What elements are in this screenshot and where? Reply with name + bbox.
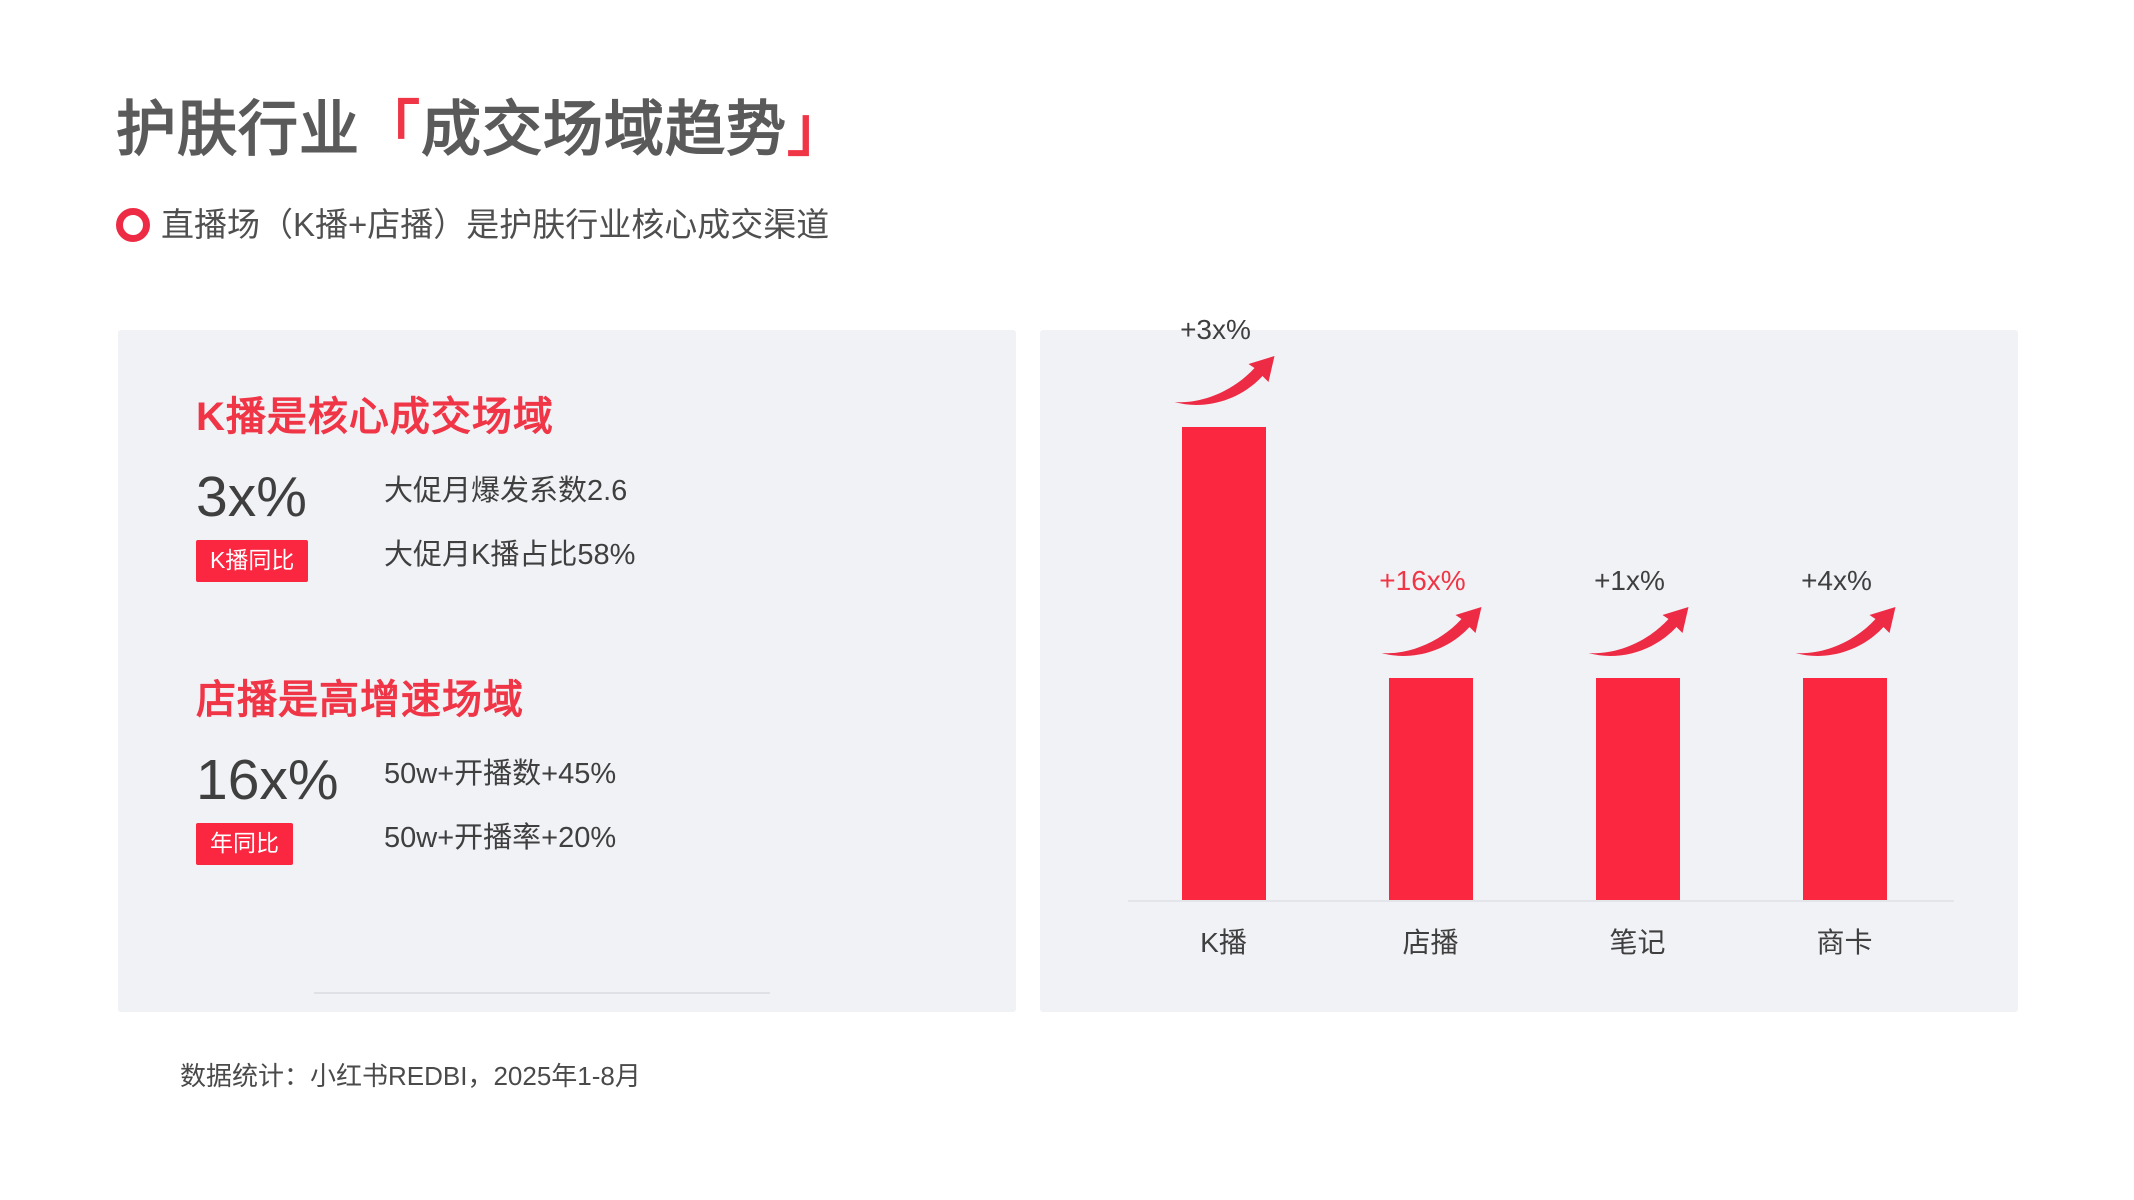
bar-group: +16x% <box>1335 380 1526 900</box>
insight-big-value: 3x% <box>196 466 368 528</box>
insight-stat-left: 3x% K播同比 <box>196 466 368 582</box>
insight-badge: K播同比 <box>196 540 308 582</box>
growth-arrow-icon <box>1132 348 1319 415</box>
insight-heading: K播是核心成交场域 <box>196 392 635 442</box>
title-bracket-open: 「 <box>360 96 421 163</box>
bar-growth-label: +1x% <box>1526 565 1733 597</box>
insight-block-kbo: K播是核心成交场域 3x% K播同比 大促月爆发系数2.6 大促月K播占比58% <box>196 392 635 582</box>
insight-stat-left: 16x% 年同比 <box>196 749 368 865</box>
slide-canvas: 护肤行业「成交场域趋势」 直播场（K播+店播）是护肤行业核心成交渠道 K播是核心… <box>0 0 2134 1200</box>
bar-growth-label: +4x% <box>1733 565 1940 597</box>
bar-annotation: +16x% <box>1335 565 1526 666</box>
bar-group: +4x% <box>1749 380 1940 900</box>
bar-商卡 <box>1803 678 1887 900</box>
bar-annotation: +3x% <box>1128 314 1319 415</box>
page-subtitle: 直播场（K播+店播）是护肤行业核心成交渠道 <box>161 205 829 245</box>
source-note: 数据统计：小红书REDBI，2025年1-8月 <box>180 1060 641 1092</box>
ring-icon <box>116 208 150 242</box>
x-axis-label-店播: 店播 <box>1335 926 1526 960</box>
insight-detail-line: 大促月爆发系数2.6 <box>384 474 635 508</box>
bar-growth-label: +3x% <box>1112 314 1319 346</box>
title-bracket-close: 」 <box>787 96 848 163</box>
insight-detail-line: 50w+开播率+20% <box>384 821 616 855</box>
bar-group: +3x% <box>1128 380 1319 900</box>
bar-笔记 <box>1596 678 1680 900</box>
insight-badge: 年同比 <box>196 823 293 865</box>
x-axis-label-K播: K播 <box>1128 926 1319 960</box>
insight-heading: 店播是高增速场域 <box>196 675 616 725</box>
bar-annotation: +1x% <box>1542 565 1733 666</box>
insight-detail-line: 50w+开播数+45% <box>384 757 616 791</box>
insight-block-dianbo: 店播是高增速场域 16x% 年同比 50w+开播数+45% 50w+开播率+20… <box>196 675 616 865</box>
insight-card: K播是核心成交场域 3x% K播同比 大促月爆发系数2.6 大促月K播占比58%… <box>118 330 1016 1012</box>
card-divider <box>314 992 770 994</box>
insight-stat-row: 3x% K播同比 大促月爆发系数2.6 大促月K播占比58% <box>196 466 635 582</box>
insight-detail-line: 大促月K播占比58% <box>384 538 635 572</box>
page-title-main: 护肤行业 <box>116 96 360 163</box>
bar-annotation: +4x% <box>1749 565 1940 666</box>
insight-stat-row: 16x% 年同比 50w+开播数+45% 50w+开播率+20% <box>196 749 616 865</box>
insight-stat-right: 大促月爆发系数2.6 大促月K播占比58% <box>384 466 635 572</box>
insight-stat-right: 50w+开播数+45% 50w+开播率+20% <box>384 749 616 855</box>
bar-group: +1x% <box>1542 380 1733 900</box>
bar-店播 <box>1389 678 1473 900</box>
growth-arrow-icon <box>1753 599 1940 666</box>
growth-arrow-icon <box>1546 599 1733 666</box>
bar-growth-label: +16x% <box>1319 565 1526 597</box>
chart-baseline <box>1128 900 1954 902</box>
x-axis-label-笔记: 笔记 <box>1542 926 1733 960</box>
subtitle-row: 直播场（K播+店播）是护肤行业核心成交渠道 <box>116 205 829 245</box>
bar-K播 <box>1182 427 1266 900</box>
chart-panel: +3x%K播+16x%店播+1x%笔记+4x%商卡 <box>1040 330 2018 1012</box>
page-title: 护肤行业「成交场域趋势」 <box>116 95 848 165</box>
x-axis-label-商卡: 商卡 <box>1749 926 1940 960</box>
bar-chart: +3x%K播+16x%店播+1x%笔记+4x%商卡 <box>1040 330 2018 1012</box>
growth-arrow-icon <box>1339 599 1526 666</box>
insight-big-value: 16x% <box>196 749 368 811</box>
title-bracket-text: 成交场域趋势 <box>421 96 787 163</box>
